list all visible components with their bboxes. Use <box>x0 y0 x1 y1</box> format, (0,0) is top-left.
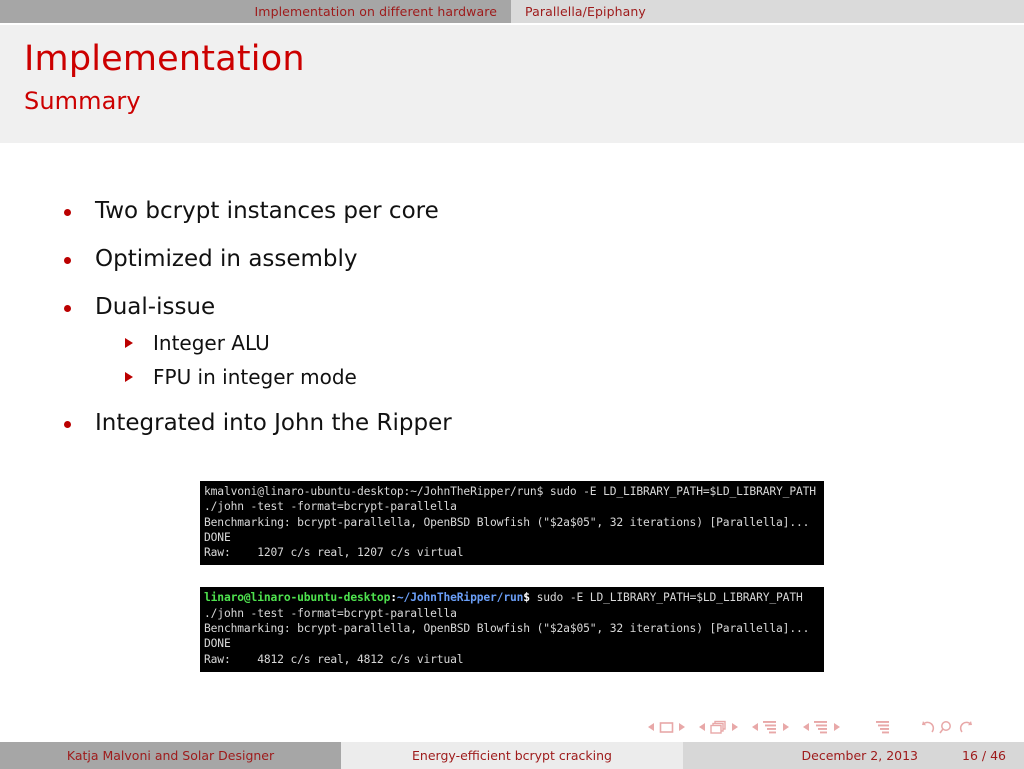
terminal-output-kmalvoni: kmalvoni@linaro-ubuntu-desktop:~/JohnThe… <box>200 481 824 565</box>
bullet-label: Two bcrypt instances per core <box>95 198 439 224</box>
bullet-triangle-icon <box>125 372 133 382</box>
terminal-output-line: Benchmarking: bcrypt-parallella, OpenBSD… <box>204 621 820 652</box>
footer-talk-title: Energy-efficient bcrypt cracking <box>341 742 683 769</box>
page-subtitle: Summary <box>24 87 1024 116</box>
list-item: Integrated into John the Ripper <box>0 412 1024 435</box>
search-icon[interactable] <box>939 720 955 735</box>
forward-arrow-icon[interactable] <box>959 720 975 735</box>
frames-icon[interactable] <box>710 720 727 735</box>
footer-page-number: 16 / 46 <box>962 748 1006 763</box>
slide-nav-group <box>648 721 685 734</box>
terminal-output-line: Raw: 1207 c/s real, 1207 c/s virtual <box>204 545 820 560</box>
next-section-icon[interactable] <box>834 723 840 731</box>
terminal-screenshots: kmalvoni@linaro-ubuntu-desktop:~/JohnThe… <box>200 481 824 672</box>
frame-nav-group <box>699 720 738 735</box>
terminal-prompt-sigil: $ <box>523 591 530 604</box>
sub-bullet-label: Integer ALU <box>153 331 270 355</box>
next-frame-icon[interactable] <box>732 723 738 731</box>
slide-title-block: Implementation Summary <box>0 25 1024 143</box>
bullet-dot-icon <box>64 421 71 428</box>
bullet-label: Integrated into John the Ripper <box>95 410 452 436</box>
previous-subsection-icon[interactable] <box>752 723 758 731</box>
subsection-nav-group <box>752 720 789 734</box>
bullet-dot-icon <box>64 209 71 216</box>
terminal-prompt-path: ~/JohnTheRipper/run <box>397 591 523 604</box>
slide-footer: Katja Malvoni and Solar Designer Energy-… <box>0 742 1024 769</box>
sub-bullet-label: FPU in integer mode <box>153 365 357 389</box>
list-item: Two bcrypt instances per core <box>0 200 1024 223</box>
page-title: Implementation <box>24 39 1024 79</box>
terminal-prompt-user: kmalvoni@linaro-ubuntu-desktop <box>204 485 404 498</box>
document-icon[interactable] <box>876 720 891 734</box>
footer-author: Katja Malvoni and Solar Designer <box>0 742 341 769</box>
previous-section-icon[interactable] <box>803 723 809 731</box>
section-nav-group <box>803 720 840 734</box>
navbar-subsection-parallella-epiphany[interactable]: Parallella/Epiphany <box>511 0 1024 23</box>
slide-icon[interactable] <box>659 721 674 734</box>
terminal-output-linaro: linaro@linaro-ubuntu-desktop:~/JohnTheRi… <box>200 587 824 671</box>
section-icon[interactable] <box>814 720 829 734</box>
next-slide-icon[interactable] <box>679 723 685 731</box>
bullet-label: Optimized in assembly <box>95 246 358 272</box>
terminal-output-line: Raw: 4812 c/s real, 4812 c/s virtual <box>204 652 820 667</box>
bullet-list: Two bcrypt instances per core Optimized … <box>0 143 1024 435</box>
list-item: Dual-issue Integer ALU FPU in integer mo… <box>0 296 1024 387</box>
list-item: Integer ALU <box>95 333 1024 353</box>
previous-frame-icon[interactable] <box>699 723 705 731</box>
navbar-section-implementation-on-different-hardware[interactable]: Implementation on different hardware <box>0 0 511 23</box>
bullet-dot-icon <box>64 257 71 264</box>
footer-meta: December 2, 2013 16 / 46 <box>683 742 1024 769</box>
bullet-label: Dual-issue <box>95 294 215 320</box>
terminal-prompt-user: linaro@linaro-ubuntu-desktop <box>204 591 390 604</box>
back-arrow-icon[interactable] <box>919 720 935 735</box>
terminal-output-line: Benchmarking: bcrypt-parallella, OpenBSD… <box>204 515 820 546</box>
terminal-prompt-separator: : <box>390 591 397 604</box>
list-item: Optimized in assembly <box>0 248 1024 271</box>
terminal-prompt-path: ~/JohnTheRipper/run <box>410 485 536 498</box>
sub-bullet-list: Integer ALU FPU in integer mode <box>95 333 1024 387</box>
next-subsection-icon[interactable] <box>783 723 789 731</box>
beamer-navigation-symbols <box>648 714 1020 740</box>
previous-slide-icon[interactable] <box>648 723 654 731</box>
beamer-navbar: Implementation on different hardware Par… <box>0 0 1024 23</box>
bullet-triangle-icon <box>125 338 133 348</box>
footer-date: December 2, 2013 <box>802 748 919 763</box>
list-item: FPU in integer mode <box>95 367 1024 387</box>
slide: Implementation on different hardware Par… <box>0 0 1024 769</box>
bullet-dot-icon <box>64 305 71 312</box>
subsection-icon[interactable] <box>763 720 778 734</box>
